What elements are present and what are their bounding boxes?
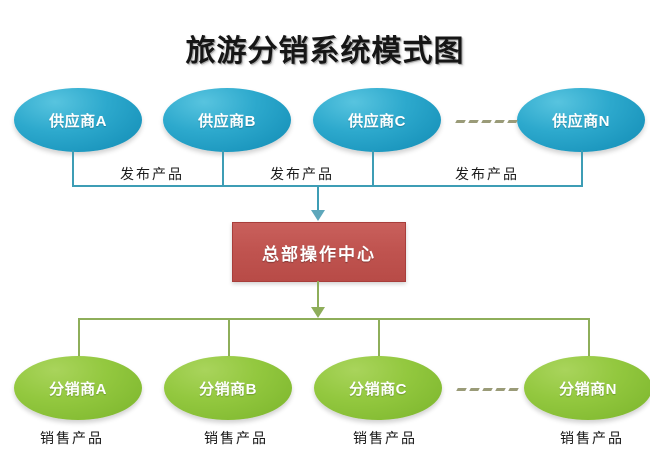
hub-inbound-line — [317, 185, 319, 211]
hub-inbound-arrow-icon — [311, 210, 325, 221]
dash-mark — [508, 388, 519, 391]
supplier-bus-line — [72, 185, 583, 187]
distributor-node-c[interactable]: 分销商C — [314, 356, 442, 420]
supplier-edge-label-2: 发布产品 — [237, 164, 367, 184]
supplier-edge-label-3: 发布产品 — [422, 164, 552, 184]
hq-operation-center-box[interactable]: 总部操作中心 — [232, 222, 406, 282]
supplier-edge-label-1: 发布产品 — [87, 164, 217, 184]
dash-mark — [494, 120, 505, 123]
supplier-ellipsis-dashes — [456, 120, 517, 123]
supplier-c-riser — [372, 150, 374, 186]
distributor-a-drop — [78, 318, 80, 360]
dash-mark — [456, 388, 467, 391]
supplier-a-riser — [72, 150, 74, 186]
dash-mark — [468, 120, 479, 123]
supplier-node-a[interactable]: 供应商A — [14, 88, 142, 152]
page-title: 旅游分销系统模式图 — [0, 26, 650, 70]
distributor-edge-label-2: 销售产品 — [172, 428, 300, 448]
supplier-node-b-label: 供应商B — [198, 110, 256, 131]
distributor-c-drop — [378, 318, 380, 360]
dash-mark — [495, 388, 506, 391]
dash-mark — [469, 388, 480, 391]
distributor-node-b[interactable]: 分销商B — [164, 356, 292, 420]
supplier-n-riser — [581, 150, 583, 186]
hub-outbound-arrow-icon — [311, 307, 325, 318]
dash-mark — [507, 120, 518, 123]
hub-outbound-line — [317, 281, 319, 308]
distributor-node-a-label: 分销商A — [49, 378, 107, 399]
supplier-node-c-label: 供应商C — [348, 110, 406, 131]
distributor-edge-label-4: 销售产品 — [528, 428, 650, 448]
hq-operation-center-label: 总部操作中心 — [262, 240, 376, 265]
dash-mark — [482, 388, 493, 391]
distributor-node-n[interactable]: 分销商N — [524, 356, 650, 420]
distributor-b-drop — [228, 318, 230, 360]
distributor-node-b-label: 分销商B — [199, 378, 257, 399]
diagram-canvas: 旅游分销系统模式图 供应商A 供应商B 供应商C 供应商N 发布产品 发布产品 … — [0, 0, 650, 459]
distributor-ellipsis-dashes — [457, 388, 518, 391]
supplier-node-a-label: 供应商A — [49, 110, 107, 131]
distributor-edge-label-3: 销售产品 — [321, 428, 449, 448]
dash-mark — [455, 120, 466, 123]
distributor-node-n-label: 分销商N — [559, 378, 617, 399]
distributor-node-c-label: 分销商C — [349, 378, 407, 399]
distributor-bus-line — [78, 318, 590, 320]
supplier-node-c[interactable]: 供应商C — [313, 88, 441, 152]
distributor-node-a[interactable]: 分销商A — [14, 356, 142, 420]
supplier-b-riser — [222, 150, 224, 186]
distributor-edge-label-1: 销售产品 — [8, 428, 136, 448]
supplier-node-b[interactable]: 供应商B — [163, 88, 291, 152]
supplier-node-n[interactable]: 供应商N — [517, 88, 645, 152]
distributor-n-drop — [588, 318, 590, 360]
dash-mark — [481, 120, 492, 123]
supplier-node-n-label: 供应商N — [552, 110, 610, 131]
